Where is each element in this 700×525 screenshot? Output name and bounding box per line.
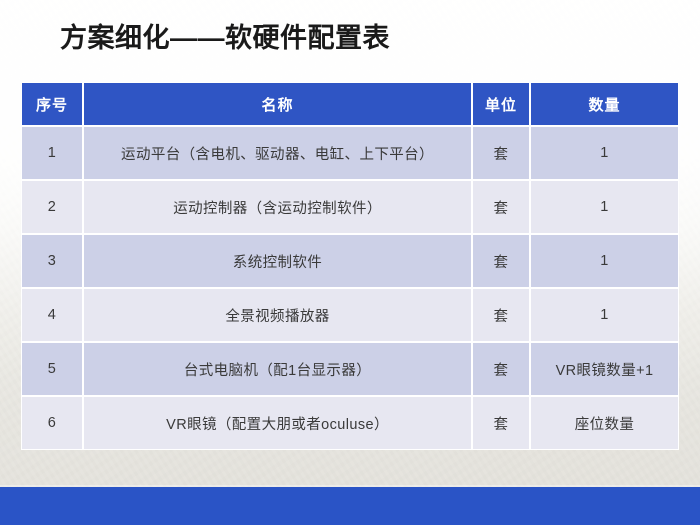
cell-name: VR眼镜（配置大朋或者oculuse） [83,396,472,450]
table-header: 序号 名称 单位 数量 [21,82,679,126]
cell-qty: 座位数量 [530,396,679,450]
cell-name: 运动控制器（含运动控制软件） [83,180,472,234]
cell-qty: VR眼镜数量+1 [530,342,679,396]
cell-name: 全景视频播放器 [83,288,472,342]
cell-qty: 1 [530,288,679,342]
table-row: 2 运动控制器（含运动控制软件） 套 1 [21,180,679,234]
cell-unit: 套 [472,234,530,288]
column-header-name: 名称 [83,82,472,126]
cell-name: 台式电脑机（配1台显示器） [83,342,472,396]
slide-canvas: 方案细化——软硬件配置表 序号 名称 单位 数量 1 运动平台（含电机、驱动器、… [0,0,700,525]
cell-no: 6 [21,396,83,450]
cell-qty: 1 [530,180,679,234]
cell-name: 系统控制软件 [83,234,472,288]
cell-qty: 1 [530,126,679,180]
hardware-software-config-table: 序号 名称 单位 数量 1 运动平台（含电机、驱动器、电缸、上下平台） 套 1 … [21,82,679,450]
table-row: 6 VR眼镜（配置大朋或者oculuse） 套 座位数量 [21,396,679,450]
column-header-qty: 数量 [530,82,679,126]
table-body: 1 运动平台（含电机、驱动器、电缸、上下平台） 套 1 2 运动控制器（含运动控… [21,126,679,450]
cell-unit: 套 [472,342,530,396]
table-row: 1 运动平台（含电机、驱动器、电缸、上下平台） 套 1 [21,126,679,180]
cell-no: 3 [21,234,83,288]
table-header-row: 序号 名称 单位 数量 [21,82,679,126]
cell-no: 5 [21,342,83,396]
page-title: 方案细化——软硬件配置表 [60,20,390,56]
cell-no: 4 [21,288,83,342]
table-row: 5 台式电脑机（配1台显示器） 套 VR眼镜数量+1 [21,342,679,396]
column-header-no: 序号 [21,82,83,126]
cell-no: 1 [21,126,83,180]
cell-name: 运动平台（含电机、驱动器、电缸、上下平台） [83,126,472,180]
column-header-unit: 单位 [472,82,530,126]
cell-unit: 套 [472,126,530,180]
cell-unit: 套 [472,396,530,450]
table-row: 3 系统控制软件 套 1 [21,234,679,288]
table-row: 4 全景视频播放器 套 1 [21,288,679,342]
cell-qty: 1 [530,234,679,288]
footer-bar [0,487,700,525]
cell-unit: 套 [472,180,530,234]
cell-unit: 套 [472,288,530,342]
cell-no: 2 [21,180,83,234]
